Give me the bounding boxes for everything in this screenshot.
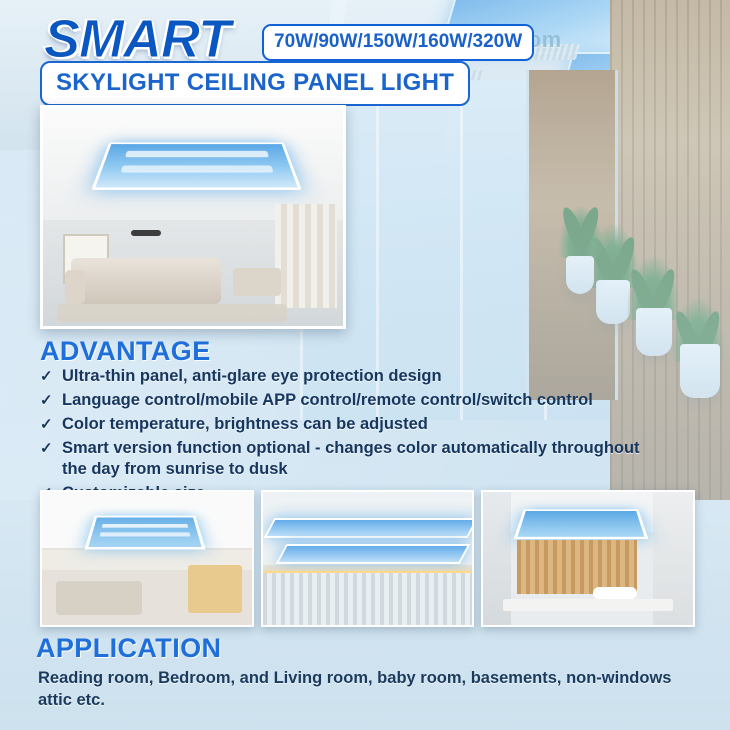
gallery-image-bathroom [481, 490, 695, 627]
g3-skylight-panel [514, 509, 649, 539]
check-icon: ✓ [40, 390, 53, 411]
application-gallery [40, 490, 695, 623]
plant-pot [680, 344, 720, 398]
g1-skylight-panel [84, 516, 205, 550]
list-item: ✓ Language control/mobile APP control/re… [40, 390, 640, 411]
potted-plant [634, 260, 672, 356]
hero-rug [57, 304, 287, 322]
list-item-label: Ultra-thin panel, anti-glare eye protect… [62, 367, 442, 385]
hero-image-living-room [40, 105, 346, 329]
gallery-image-corridor [261, 490, 475, 627]
plant-leaves [559, 206, 603, 258]
list-item: ✓ Smart version function optional - chan… [40, 438, 640, 480]
subtitle-bar: SKYLIGHT CEILING PANEL LIGHT [40, 61, 470, 106]
g1-bed [56, 581, 142, 615]
list-item-label: Smart version function optional - change… [62, 439, 640, 478]
advantage-list: ✓ Ultra-thin panel, anti-glare eye prote… [40, 366, 640, 507]
g3-wood-slats [517, 540, 637, 594]
advantage-heading: ADVANTAGE [40, 336, 211, 367]
hero-skylight-panel [91, 142, 302, 190]
potted-plant [676, 290, 720, 398]
hero-floor-lamp [131, 230, 161, 236]
check-icon: ✓ [40, 366, 53, 387]
hero-sofa [71, 258, 221, 304]
g2-linear-panel [275, 544, 470, 564]
application-text: Reading room, Bedroom, and Living room, … [38, 667, 678, 711]
hero-curtain [275, 204, 337, 308]
wattage-badge: 70W/90W/150W/160W/320W [262, 24, 534, 61]
plant-pot [566, 256, 594, 294]
list-item: ✓ Ultra-thin panel, anti-glare eye prote… [40, 366, 640, 387]
check-icon: ✓ [40, 414, 53, 435]
potted-plant [566, 218, 596, 294]
list-item-label: Color temperature, brightness can be adj… [62, 415, 428, 433]
g2-linear-panel [263, 518, 474, 538]
g3-counter [503, 599, 673, 611]
list-item: ✓ Color temperature, brightness can be a… [40, 414, 640, 435]
list-item-label: Language control/mobile APP control/remo… [62, 391, 593, 409]
poster-canvas: www.bewinlight.com SMART 70W/90W/150W/16… [0, 0, 730, 730]
g2-slat-wall [263, 573, 475, 625]
g1-cabinet [188, 565, 242, 613]
gallery-image-bedroom [40, 490, 254, 627]
subtitle-text: SKYLIGHT CEILING PANEL LIGHT [56, 69, 454, 96]
plant-pot [636, 308, 672, 356]
g3-sink [593, 587, 637, 599]
plant-pot [596, 280, 630, 324]
application-heading: APPLICATION [36, 633, 221, 664]
check-icon: ✓ [40, 438, 53, 459]
hero-side-table [233, 268, 281, 296]
